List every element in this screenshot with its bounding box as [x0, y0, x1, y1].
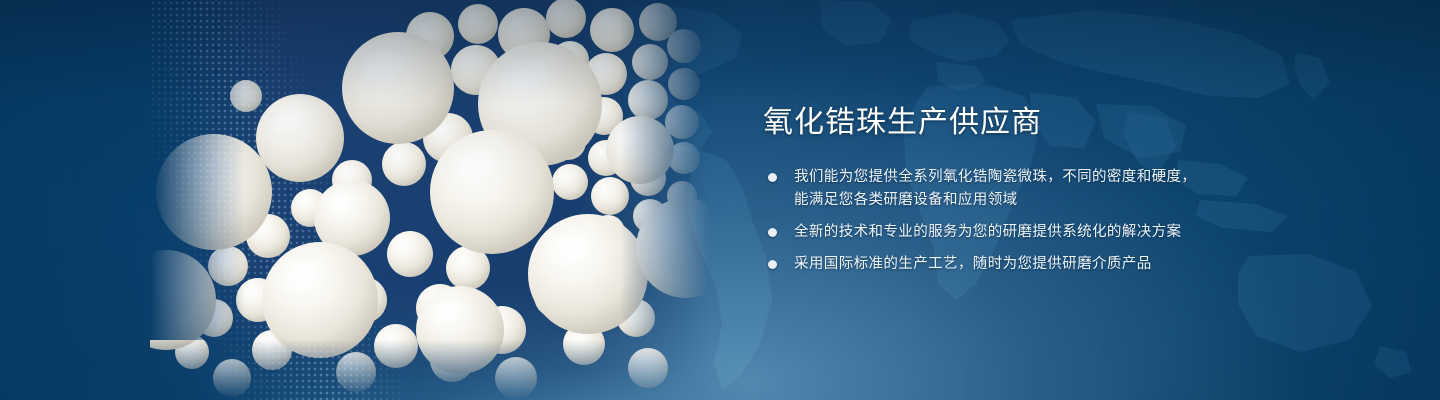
zirconia-beads-photo [150, 0, 710, 400]
bullet-dot-icon [768, 260, 777, 269]
bullet-dot-icon [768, 228, 777, 237]
feature-bullet-line-continued: 能满足您各类研磨设备和应用领域 [794, 189, 1283, 212]
bullet-dot-icon [768, 173, 777, 182]
feature-bullet-line: 采用国际标准的生产工艺，随时为您提供研磨介质产品 [794, 253, 1283, 276]
banner-headline: 氧化锆珠生产供应商 [763, 104, 1283, 142]
banner-content: 氧化锆珠生产供应商 我们能为您提供全系列氧化锆陶瓷微珠，不同的密度和硬度， 能满… [763, 104, 1283, 276]
feature-bullet-item: 我们能为您提供全系列氧化锆陶瓷微珠，不同的密度和硬度， 能满足您各类研磨设备和应… [768, 166, 1283, 212]
feature-bullet-list: 我们能为您提供全系列氧化锆陶瓷微珠，不同的密度和硬度， 能满足您各类研磨设备和应… [768, 166, 1283, 276]
feature-bullet-line: 全新的技术和专业的服务为您的研磨提供系统化的解决方案 [794, 221, 1283, 244]
hero-banner: 氧化锆珠生产供应商 我们能为您提供全系列氧化锆陶瓷微珠，不同的密度和硬度， 能满… [0, 0, 1440, 400]
feature-bullet-item: 全新的技术和专业的服务为您的研磨提供系统化的解决方案 [768, 221, 1283, 244]
feature-bullet-item: 采用国际标准的生产工艺，随时为您提供研磨介质产品 [768, 253, 1283, 276]
feature-bullet-line: 我们能为您提供全系列氧化锆陶瓷微珠，不同的密度和硬度， [794, 166, 1283, 189]
photo-backdrop [150, 0, 710, 400]
